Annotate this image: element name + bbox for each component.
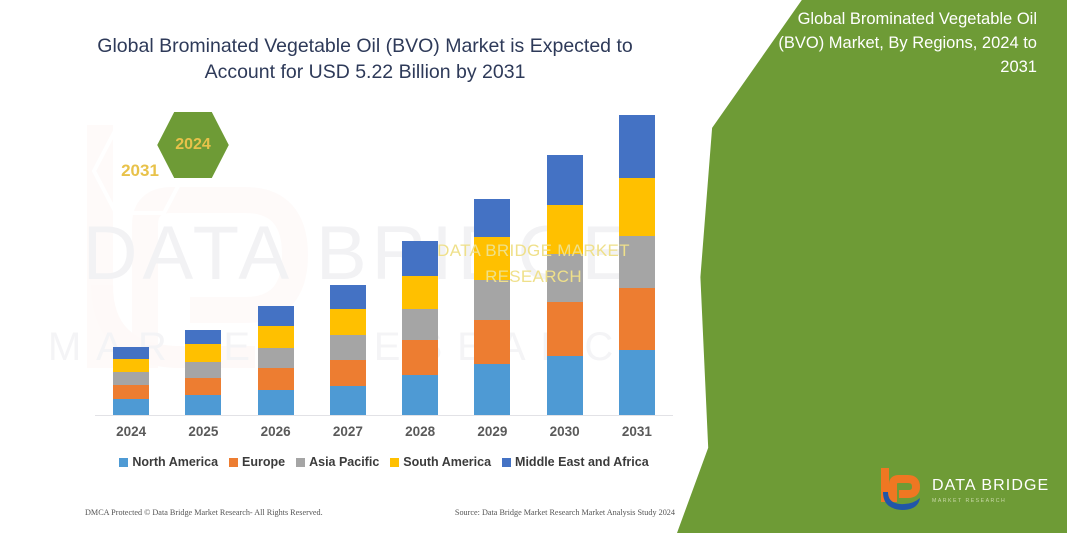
- legend-label: North America: [132, 455, 218, 469]
- legend-label: South America: [403, 455, 491, 469]
- bar-segment: [258, 368, 294, 390]
- legend-item[interactable]: North America: [119, 455, 218, 469]
- legend-label: Middle East and Africa: [515, 455, 649, 469]
- bar-segment: [619, 350, 655, 415]
- bar-segment: [258, 390, 294, 415]
- footer-copyright: DMCA Protected © Data Bridge Market Rese…: [85, 508, 323, 517]
- legend-label: Europe: [242, 455, 285, 469]
- panel-brand-name: DATA BRIDGE MARKET RESEARCH: [0, 238, 1067, 289]
- panel-brand-line2: RESEARCH: [419, 264, 649, 290]
- stacked-bar: [258, 306, 294, 415]
- bar-segment: [258, 306, 294, 326]
- legend-swatch-icon: [502, 458, 511, 467]
- bar-segment: [185, 344, 221, 361]
- data-bridge-logo-icon: [878, 468, 924, 514]
- legend-item[interactable]: Middle East and Africa: [502, 455, 649, 469]
- panel-title: Global Brominated Vegetable Oil (BVO) Ma…: [749, 8, 1037, 80]
- bar-segment: [474, 364, 510, 415]
- x-axis-tick-label: 2024: [95, 424, 167, 439]
- bar-segment: [547, 302, 583, 356]
- data-bridge-logo: DATA BRIDGE MARKET RESEARCH: [878, 466, 1058, 516]
- legend-swatch-icon: [296, 458, 305, 467]
- bar-segment: [185, 395, 221, 415]
- bar-segment: [185, 362, 221, 378]
- bar-segment: [402, 375, 438, 415]
- bar-segment: [619, 288, 655, 350]
- logo-sub-text: MARKET RESEARCH: [932, 498, 1049, 504]
- x-axis-line: [95, 415, 673, 416]
- x-axis-tick-label: 2027: [312, 424, 384, 439]
- footer: DMCA Protected © Data Bridge Market Rese…: [85, 508, 675, 517]
- bar-segment: [185, 378, 221, 395]
- bar-segment: [258, 326, 294, 348]
- bar-segment: [113, 347, 149, 359]
- bar-segment: [185, 330, 221, 344]
- bar-segment: [330, 335, 366, 360]
- legend-item[interactable]: Asia Pacific: [296, 455, 379, 469]
- bar-segment: [330, 386, 366, 415]
- bar-segment: [113, 399, 149, 415]
- stacked-bar: [474, 199, 510, 415]
- bar-segment: [113, 372, 149, 385]
- bar-segment: [402, 309, 438, 341]
- legend-swatch-icon: [390, 458, 399, 467]
- data-bridge-logo-text: DATA BRIDGE MARKET RESEARCH: [932, 478, 1049, 504]
- chart-legend: North AmericaEuropeAsia PacificSouth Ame…: [95, 455, 673, 469]
- market-report-infographic: DATA BRIDGE MARKET RESEARCH Global Bromi…: [0, 0, 1067, 533]
- bar-segment: [330, 309, 366, 335]
- hex-badge-2024-label: 2024: [175, 136, 211, 154]
- x-axis-tick-label: 2025: [167, 424, 239, 439]
- bar-segment: [402, 340, 438, 375]
- stacked-bar: [185, 330, 221, 415]
- logo-main-text: DATA BRIDGE: [932, 478, 1049, 495]
- bar-segment: [547, 356, 583, 415]
- legend-item[interactable]: Europe: [229, 455, 285, 469]
- bar-segment: [113, 385, 149, 399]
- legend-label: Asia Pacific: [309, 455, 379, 469]
- legend-swatch-icon: [119, 458, 128, 467]
- bar-segment: [330, 360, 366, 386]
- x-axis-tick-labels: 20242025202620272028202920302031: [95, 424, 673, 439]
- chart-title: Global Brominated Vegetable Oil (BVO) Ma…: [60, 33, 670, 86]
- hex-badge-2024: 2024: [153, 105, 233, 185]
- x-axis-tick-label: 2031: [601, 424, 673, 439]
- legend-swatch-icon: [229, 458, 238, 467]
- footer-source: Source: Data Bridge Market Research Mark…: [455, 508, 675, 517]
- x-axis-tick-label: 2028: [384, 424, 456, 439]
- bar-segment: [258, 348, 294, 369]
- bar-segment: [113, 359, 149, 372]
- stacked-bar: [113, 347, 149, 415]
- x-axis-tick-label: 2029: [456, 424, 528, 439]
- bar-segment: [474, 320, 510, 363]
- panel-brand-line1: DATA BRIDGE MARKET: [419, 238, 649, 264]
- stacked-bar: [330, 285, 366, 415]
- x-axis-tick-label: 2026: [240, 424, 312, 439]
- x-axis-tick-label: 2030: [529, 424, 601, 439]
- legend-item[interactable]: South America: [390, 455, 491, 469]
- hexagon-badges: 2031 2024: [0, 105, 1067, 215]
